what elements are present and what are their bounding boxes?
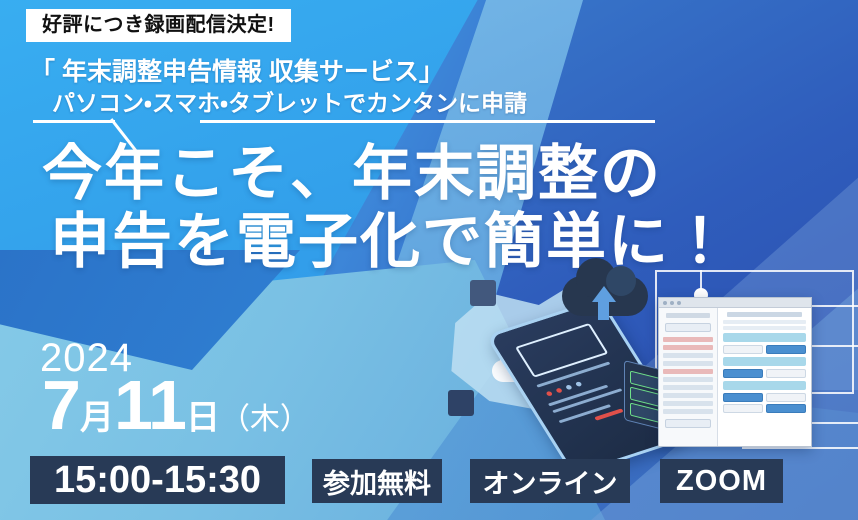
cube-icon-top [470, 280, 496, 306]
list-item [663, 353, 713, 358]
event-day-unit: 日 [186, 399, 220, 437]
isometric-illustration [440, 268, 680, 468]
mockup-sidebar [659, 308, 718, 447]
headline-line-1: 今年こそ、年末調整の [42, 140, 662, 207]
list-item [663, 385, 713, 390]
service-description-line: パソコン・スマホ・タブレットでカンタンに申請 [52, 84, 527, 118]
event-weekday: （木） [220, 403, 310, 436]
service-name-line: 「 年末調整申告情報 収集サービス」 [30, 52, 444, 88]
upload-arrow-stem [598, 300, 609, 320]
divider-right [200, 120, 655, 123]
divider-left [33, 120, 115, 123]
page-title: 今年こそ、年末調整の 申告を電子化で簡単に！ [42, 140, 732, 276]
event-month-number: 7 [42, 366, 80, 444]
list-item [663, 345, 713, 350]
status-badge-fee: 参加無料 [312, 459, 442, 503]
app-window-mockup [658, 297, 812, 447]
phone-screen-frame [515, 323, 609, 378]
cube-icon-bottom [448, 390, 474, 416]
list-item [663, 337, 713, 342]
mockup-message [723, 333, 806, 342]
list-item [663, 401, 713, 406]
headline-line-2: 申告を電子化で簡単に！ [50, 208, 732, 276]
event-date: 7月11日（木） [42, 370, 310, 440]
list-item [663, 393, 713, 398]
mockup-message [723, 357, 806, 366]
mockup-titlebar [659, 298, 811, 308]
mockup-sidebar-button [665, 419, 711, 428]
list-item [663, 377, 713, 382]
webinar-banner: 好評につき録画配信決定! 「 年末調整申告情報 収集サービス」 パソコン・スマホ… [0, 0, 858, 520]
mockup-message [723, 381, 806, 390]
mockup-body [659, 308, 811, 447]
event-month-unit: 月 [80, 399, 114, 437]
mockup-content [718, 308, 811, 447]
list-item [663, 369, 713, 374]
status-badge-time: 15:00-15:30 [30, 456, 285, 504]
status-badge-platform: ZOOM [660, 459, 783, 503]
announcement-ribbon: 好評につき録画配信決定! [26, 9, 291, 42]
mockup-sidebar-select [665, 323, 711, 332]
list-item [663, 409, 713, 414]
status-badge-format: オンライン [470, 459, 630, 503]
event-day-number: 11 [114, 366, 186, 444]
list-item [663, 361, 713, 366]
